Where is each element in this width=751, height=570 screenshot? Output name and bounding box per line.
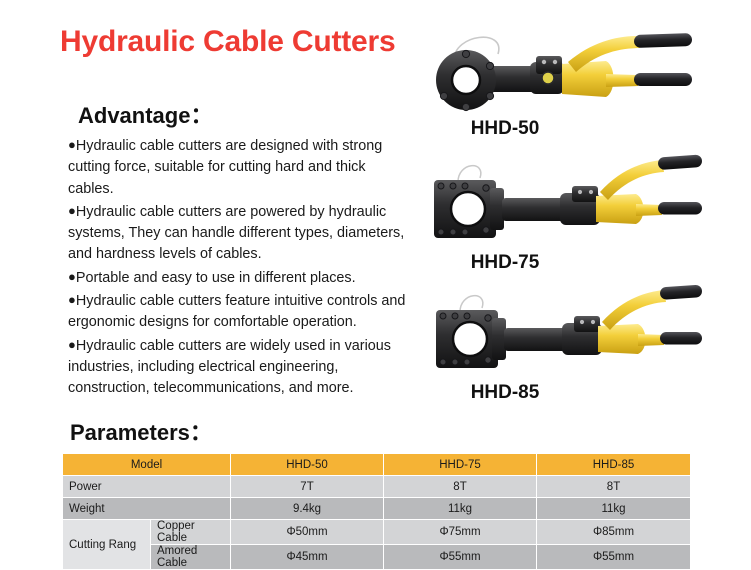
row-sublabel: Amored Cable: [151, 545, 231, 570]
row-value: Φ75mm: [384, 520, 537, 545]
product-spec-page: Hydraulic Cable Cutters Advantage： ●Hydr…: [0, 0, 751, 569]
row-label-cutting-rang: Cutting Rang: [63, 520, 151, 570]
row-sublabel: Copper Cable: [151, 520, 231, 545]
table-row: Amored Cable Φ45mm Φ55mm Φ55mm: [63, 545, 691, 570]
bullet-icon: ●: [68, 337, 76, 352]
table-header-cell: HHD-75: [384, 454, 537, 476]
row-value: 9.4kg: [231, 498, 384, 520]
row-label: Weight: [63, 498, 231, 520]
table-row: Cutting Rang Copper Cable Φ50mm Φ75mm Φ8…: [63, 520, 691, 545]
parameters-table-wrap: Model HHD-50 HHD-75 HHD-85 Power 7T 8T 8…: [62, 453, 690, 570]
parameters-table: Model HHD-50 HHD-75 HHD-85 Power 7T 8T 8…: [62, 453, 691, 570]
row-value: Φ55mm: [537, 545, 691, 570]
product-label-hhd-85: HHD-85: [400, 382, 610, 404]
list-item: ●Portable and easy to use in different p…: [68, 266, 410, 289]
row-value: 7T: [231, 476, 384, 498]
row-value: Φ50mm: [231, 520, 384, 545]
table-row: Power 7T 8T 8T: [63, 476, 691, 498]
bullet-icon: ●: [68, 292, 76, 307]
bullet-icon: ●: [68, 203, 76, 218]
row-label: Power: [63, 476, 231, 498]
bullet-icon: ●: [68, 269, 76, 284]
list-item: ●Hydraulic cable cutters feature intuiti…: [68, 289, 410, 334]
table-header-cell: HHD-50: [231, 454, 384, 476]
row-value: 8T: [537, 476, 691, 498]
table-header-row: Model HHD-50 HHD-75 HHD-85: [63, 454, 691, 476]
advantage-text: Hydraulic cable cutters feature intuitiv…: [68, 293, 405, 330]
list-item: ●Hydraulic cable cutters are widely used…: [68, 334, 410, 400]
row-value: 8T: [384, 476, 537, 498]
product-image-hhd-85: [424, 278, 704, 383]
row-value: 11kg: [537, 498, 691, 520]
table-header-cell: Model: [63, 454, 231, 476]
product-image-hhd-75: [424, 148, 704, 253]
row-value: Φ45mm: [231, 545, 384, 570]
row-value: Φ85mm: [537, 520, 691, 545]
list-item: ●Hydraulic cable cutters are powered by …: [68, 200, 410, 266]
parameters-heading: Parameters：: [70, 415, 212, 447]
advantage-text: Hydraulic cable cutters are powered by h…: [68, 204, 404, 263]
advantage-list: ●Hydraulic cable cutters are designed wi…: [68, 134, 410, 400]
advantage-heading: Advantage：: [78, 98, 212, 130]
list-item: ●Hydraulic cable cutters are designed wi…: [68, 134, 410, 200]
bullet-icon: ●: [68, 137, 76, 152]
advantage-text: Portable and easy to use in different pl…: [76, 270, 356, 286]
product-image-hhd-50: [420, 18, 700, 123]
product-label-hhd-50: HHD-50: [400, 118, 610, 140]
advantage-text: Hydraulic cable cutters are widely used …: [68, 338, 391, 397]
page-title: Hydraulic Cable Cutters: [60, 25, 396, 59]
row-value: 11kg: [384, 498, 537, 520]
product-label-hhd-75: HHD-75: [400, 252, 610, 274]
advantage-text: Hydraulic cable cutters are designed wit…: [68, 138, 382, 197]
table-header-cell: HHD-85: [537, 454, 691, 476]
table-row: Weight 9.4kg 11kg 11kg: [63, 498, 691, 520]
row-value: Φ55mm: [384, 545, 537, 570]
